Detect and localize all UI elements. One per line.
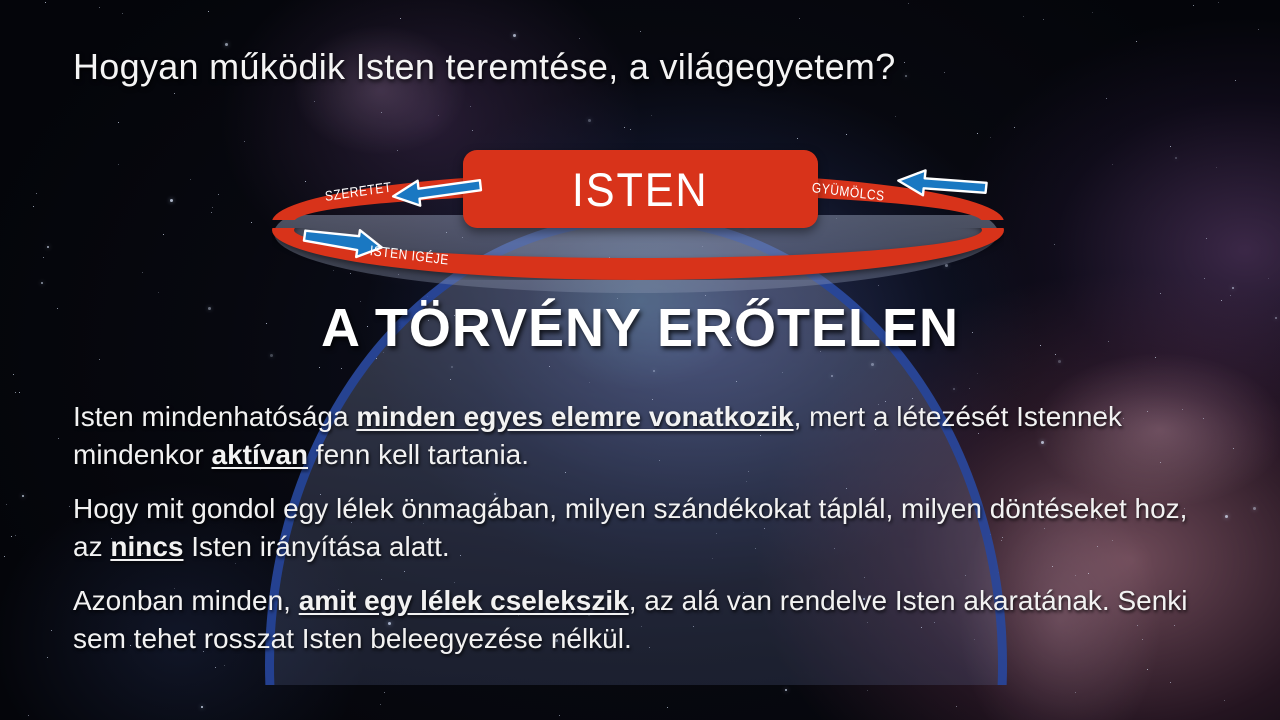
emphasised-text: amit egy lélek cselekszik	[299, 585, 629, 616]
slide-root: Hogyan működik Isten teremtése, a világe…	[0, 0, 1280, 720]
body-paragraph: Azonban minden, amit egy lélek cselekszi…	[73, 582, 1207, 658]
arrow-left-icon	[890, 169, 990, 203]
body-paragraph: Isten mindenhatósága minden egyes elemre…	[73, 398, 1207, 474]
body-text: Isten mindenhatósága minden egyes elemre…	[73, 398, 1207, 674]
page-title: Hogyan működik Isten teremtése, a világe…	[73, 46, 896, 88]
plain-text: fenn kell tartania.	[308, 439, 529, 470]
arrow-left-icon	[385, 176, 485, 210]
plain-text: Isten mindenhatósága	[73, 401, 356, 432]
headline: A TÖRVÉNY ERŐTELEN	[0, 297, 1280, 359]
emphasised-text: minden egyes elemre vonatkozik	[356, 401, 793, 432]
plain-text: Azonban minden,	[73, 585, 299, 616]
emphasised-text: nincs	[110, 531, 183, 562]
body-paragraph: Hogy mit gondol egy lélek önmagában, mil…	[73, 490, 1207, 566]
plain-text: Isten irányítása alatt.	[184, 531, 450, 562]
emphasised-text: aktívan	[212, 439, 309, 470]
